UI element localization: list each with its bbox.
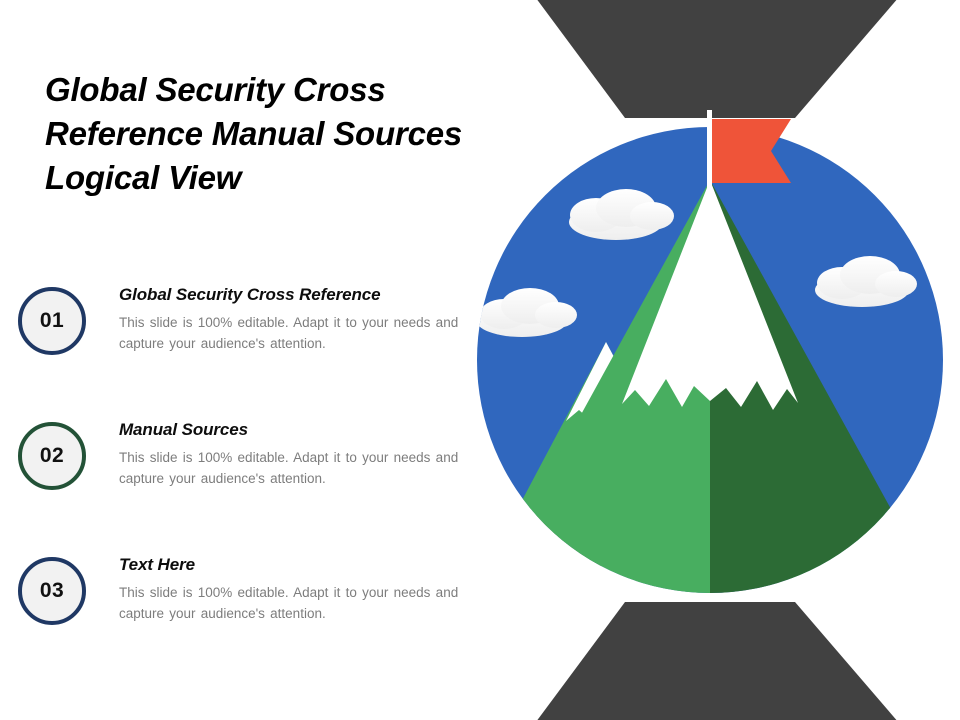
list-item[interactable]: 01 Global Security Cross Reference This …: [0, 285, 480, 420]
bullet-description: This slide is 100% editable. Adapt it to…: [119, 312, 464, 354]
bullet-number: 02: [40, 444, 64, 468]
bullet-body: Manual Sources This slide is 100% editab…: [119, 420, 464, 489]
bullet-body: Text Here This slide is 100% editable. A…: [119, 555, 464, 624]
bullet-heading: Global Security Cross Reference: [119, 285, 464, 305]
bullet-heading: Text Here: [119, 555, 464, 575]
bullet-description: This slide is 100% editable. Adapt it to…: [119, 582, 464, 624]
mountain-summit-flag-illustration: [460, 0, 960, 720]
bullet-number: 03: [40, 579, 64, 603]
list-item[interactable]: 03 Text Here This slide is 100% editable…: [0, 555, 480, 690]
slide-canvas: Global Security Cross Reference Manual S…: [0, 0, 960, 720]
bullet-number: 01: [40, 309, 64, 333]
top-gray-wedge-shape: [530, 0, 905, 118]
bullet-description: This slide is 100% editable. Adapt it to…: [119, 447, 464, 489]
bullet-list: 01 Global Security Cross Reference This …: [0, 285, 480, 690]
list-item[interactable]: 02 Manual Sources This slide is 100% edi…: [0, 420, 480, 555]
bullet-badge-03: 03: [18, 557, 86, 625]
flag-pole-shape: [707, 110, 712, 220]
bullet-badge-02: 02: [18, 422, 86, 490]
bullet-heading: Manual Sources: [119, 420, 464, 440]
bullet-body: Global Security Cross Reference This sli…: [119, 285, 464, 354]
page-title: Global Security Cross Reference Manual S…: [45, 68, 465, 200]
bottom-gray-wedge-shape: [530, 602, 905, 720]
bullet-badge-01: 01: [18, 287, 86, 355]
